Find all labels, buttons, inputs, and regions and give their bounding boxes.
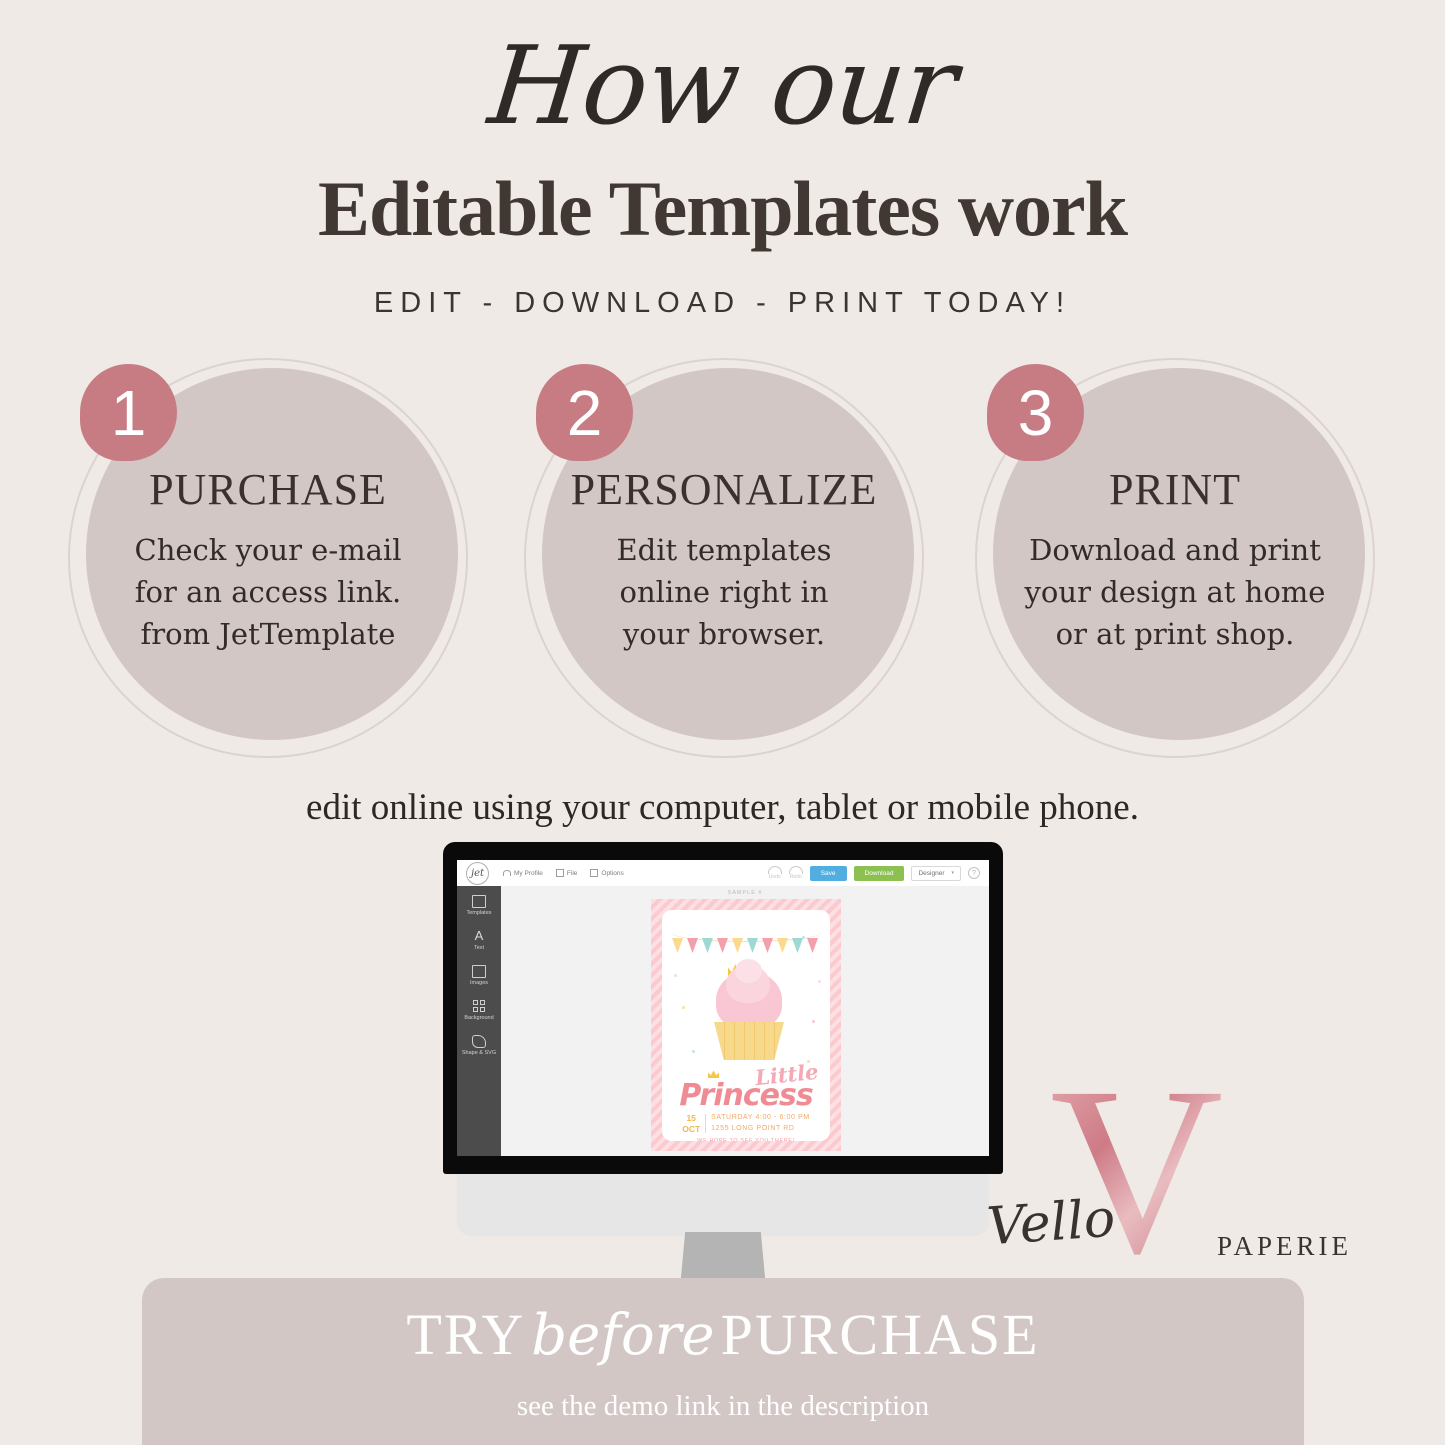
monitor-mockup: jet My Profile File Options Undo [443, 842, 1003, 1262]
step-desc-line-1: Check your e-mail [135, 529, 402, 571]
designer-label: Designer [918, 870, 944, 877]
bunting-decoration [670, 932, 822, 952]
card-details: 15 OCT SATURDAY 4:00 - 6:00 PM 1255 LONG… [662, 1113, 830, 1134]
file-icon [556, 869, 564, 877]
jet-logo-icon[interactable]: jet [466, 862, 489, 885]
steps-section: 1 PURCHASE Check your e-mail for an acce… [0, 358, 1445, 758]
card-time-line: SATURDAY 4:00 - 6:00 PM [711, 1113, 810, 1124]
step-desc-line-3: or at print shop. [1025, 613, 1326, 655]
card-date-day: 15 [682, 1113, 700, 1124]
step-title: PURCHASE [149, 464, 387, 515]
cupcake-illustration [706, 965, 792, 1061]
undo-label: Undo [769, 874, 781, 880]
sidebar-item-text[interactable]: A Text [457, 930, 501, 951]
editor-sidebar: Templates A Text Images Background Shape… [457, 886, 501, 1156]
banner-title: TRYbeforePURCHASE [142, 1301, 1304, 1368]
sidebar-item-label: Shape & SVG [462, 1050, 496, 1056]
card-inner: Little Princess 15 OCT SATURDAY 4:00 - 6… [662, 910, 830, 1141]
text-icon: A [472, 930, 486, 942]
header-script-line: How our [0, 30, 1445, 143]
sidebar-item-label: Templates [466, 910, 491, 916]
step-desc-line-2: for an access link. [135, 571, 402, 613]
banner-title-part2: PURCHASE [721, 1302, 1040, 1367]
banner-title-part1: TRY [406, 1302, 525, 1367]
brand-logo: V Vello PAPERIE [975, 1065, 1375, 1295]
page-title: Editable Templates work [0, 170, 1445, 248]
templates-icon [472, 895, 486, 907]
sidebar-item-label: Background [464, 1015, 493, 1021]
save-button[interactable]: Save [810, 866, 847, 881]
monitor-chin [457, 1174, 989, 1236]
undo-icon [768, 866, 782, 874]
sidebar-item-templates[interactable]: Templates [457, 895, 501, 916]
shape-svg-icon [472, 1035, 486, 1047]
background-icon [472, 1000, 486, 1012]
menu-item-my-profile[interactable]: My Profile [503, 870, 543, 877]
editor-tagline: edit online using your computer, tablet … [0, 786, 1445, 829]
editor-screen: jet My Profile File Options Undo [457, 860, 989, 1156]
step-desc-line-2: your design at home [1025, 571, 1326, 613]
details-divider [705, 1114, 706, 1133]
step-desc-line-2: online right in [616, 571, 831, 613]
designer-dropdown[interactable]: Designer ▾ [911, 866, 961, 881]
step-card-purchase: 1 PURCHASE Check your e-mail for an acce… [68, 358, 468, 758]
menu-label: File [567, 870, 577, 877]
help-icon[interactable]: ? [968, 867, 980, 879]
banner-title-script: before [525, 1303, 720, 1368]
redo-icon [789, 866, 803, 874]
step-number-badge: 3 [987, 364, 1084, 461]
card-address-line: 1255 LONG POINT RD [711, 1124, 810, 1135]
card-date-month: OCT [682, 1124, 700, 1135]
sidebar-item-background[interactable]: Background [457, 1000, 501, 1021]
menu-item-options[interactable]: Options [590, 869, 623, 877]
download-button[interactable]: Download [854, 866, 905, 881]
canvas-sample-label: SAMPLE # [501, 886, 989, 896]
bottom-banner: TRYbeforePURCHASE see the demo link in t… [142, 1278, 1304, 1445]
header-subtitle: EDIT - DOWNLOAD - PRINT TODAY! [0, 287, 1445, 320]
menu-label: Options [601, 870, 623, 877]
editor-toolbar: jet My Profile File Options Undo [457, 860, 989, 887]
editor-canvas[interactable]: SAMPLE # [501, 886, 989, 1156]
step-card-personalize: 2 PERSONALIZE Edit templates online righ… [524, 358, 924, 758]
sidebar-item-shape-svg[interactable]: Shape & SVG [457, 1035, 501, 1056]
brand-script-name: Vello [985, 1189, 1117, 1258]
step-desc-line-1: Edit templates [616, 529, 831, 571]
person-icon [503, 870, 511, 876]
step-number-badge: 2 [536, 364, 633, 461]
menu-label: My Profile [514, 870, 543, 877]
banner-subtitle: see the demo link in the description [142, 1390, 1304, 1423]
step-number-badge: 1 [80, 364, 177, 461]
images-icon [472, 965, 486, 977]
sidebar-item-images[interactable]: Images [457, 965, 501, 986]
step-desc-line-3: from JetTemplate [135, 613, 402, 655]
brand-word: PAPERIE [1217, 1231, 1352, 1262]
step-desc-line-3: your browser. [616, 613, 831, 655]
sidebar-item-label: Text [474, 945, 484, 951]
chevron-down-icon: ▾ [951, 870, 954, 876]
sidebar-item-label: Images [470, 980, 488, 986]
step-desc-line-1: Download and print [1025, 529, 1326, 571]
card-footer-text: WE HOPE TO SEE YOU THERE! [662, 1138, 830, 1141]
options-icon [590, 869, 598, 877]
card-title: Princess [662, 1078, 830, 1113]
invitation-card[interactable]: Little Princess 15 OCT SATURDAY 4:00 - 6… [651, 899, 841, 1151]
menu-item-file[interactable]: File [556, 869, 577, 877]
step-title: PERSONALIZE [571, 464, 878, 515]
step-title: PRINT [1109, 464, 1241, 515]
step-card-print: 3 PRINT Download and print your design a… [975, 358, 1375, 758]
redo-button[interactable]: Redo [789, 866, 803, 880]
redo-label: Redo [790, 874, 802, 880]
undo-button[interactable]: Undo [768, 866, 782, 880]
